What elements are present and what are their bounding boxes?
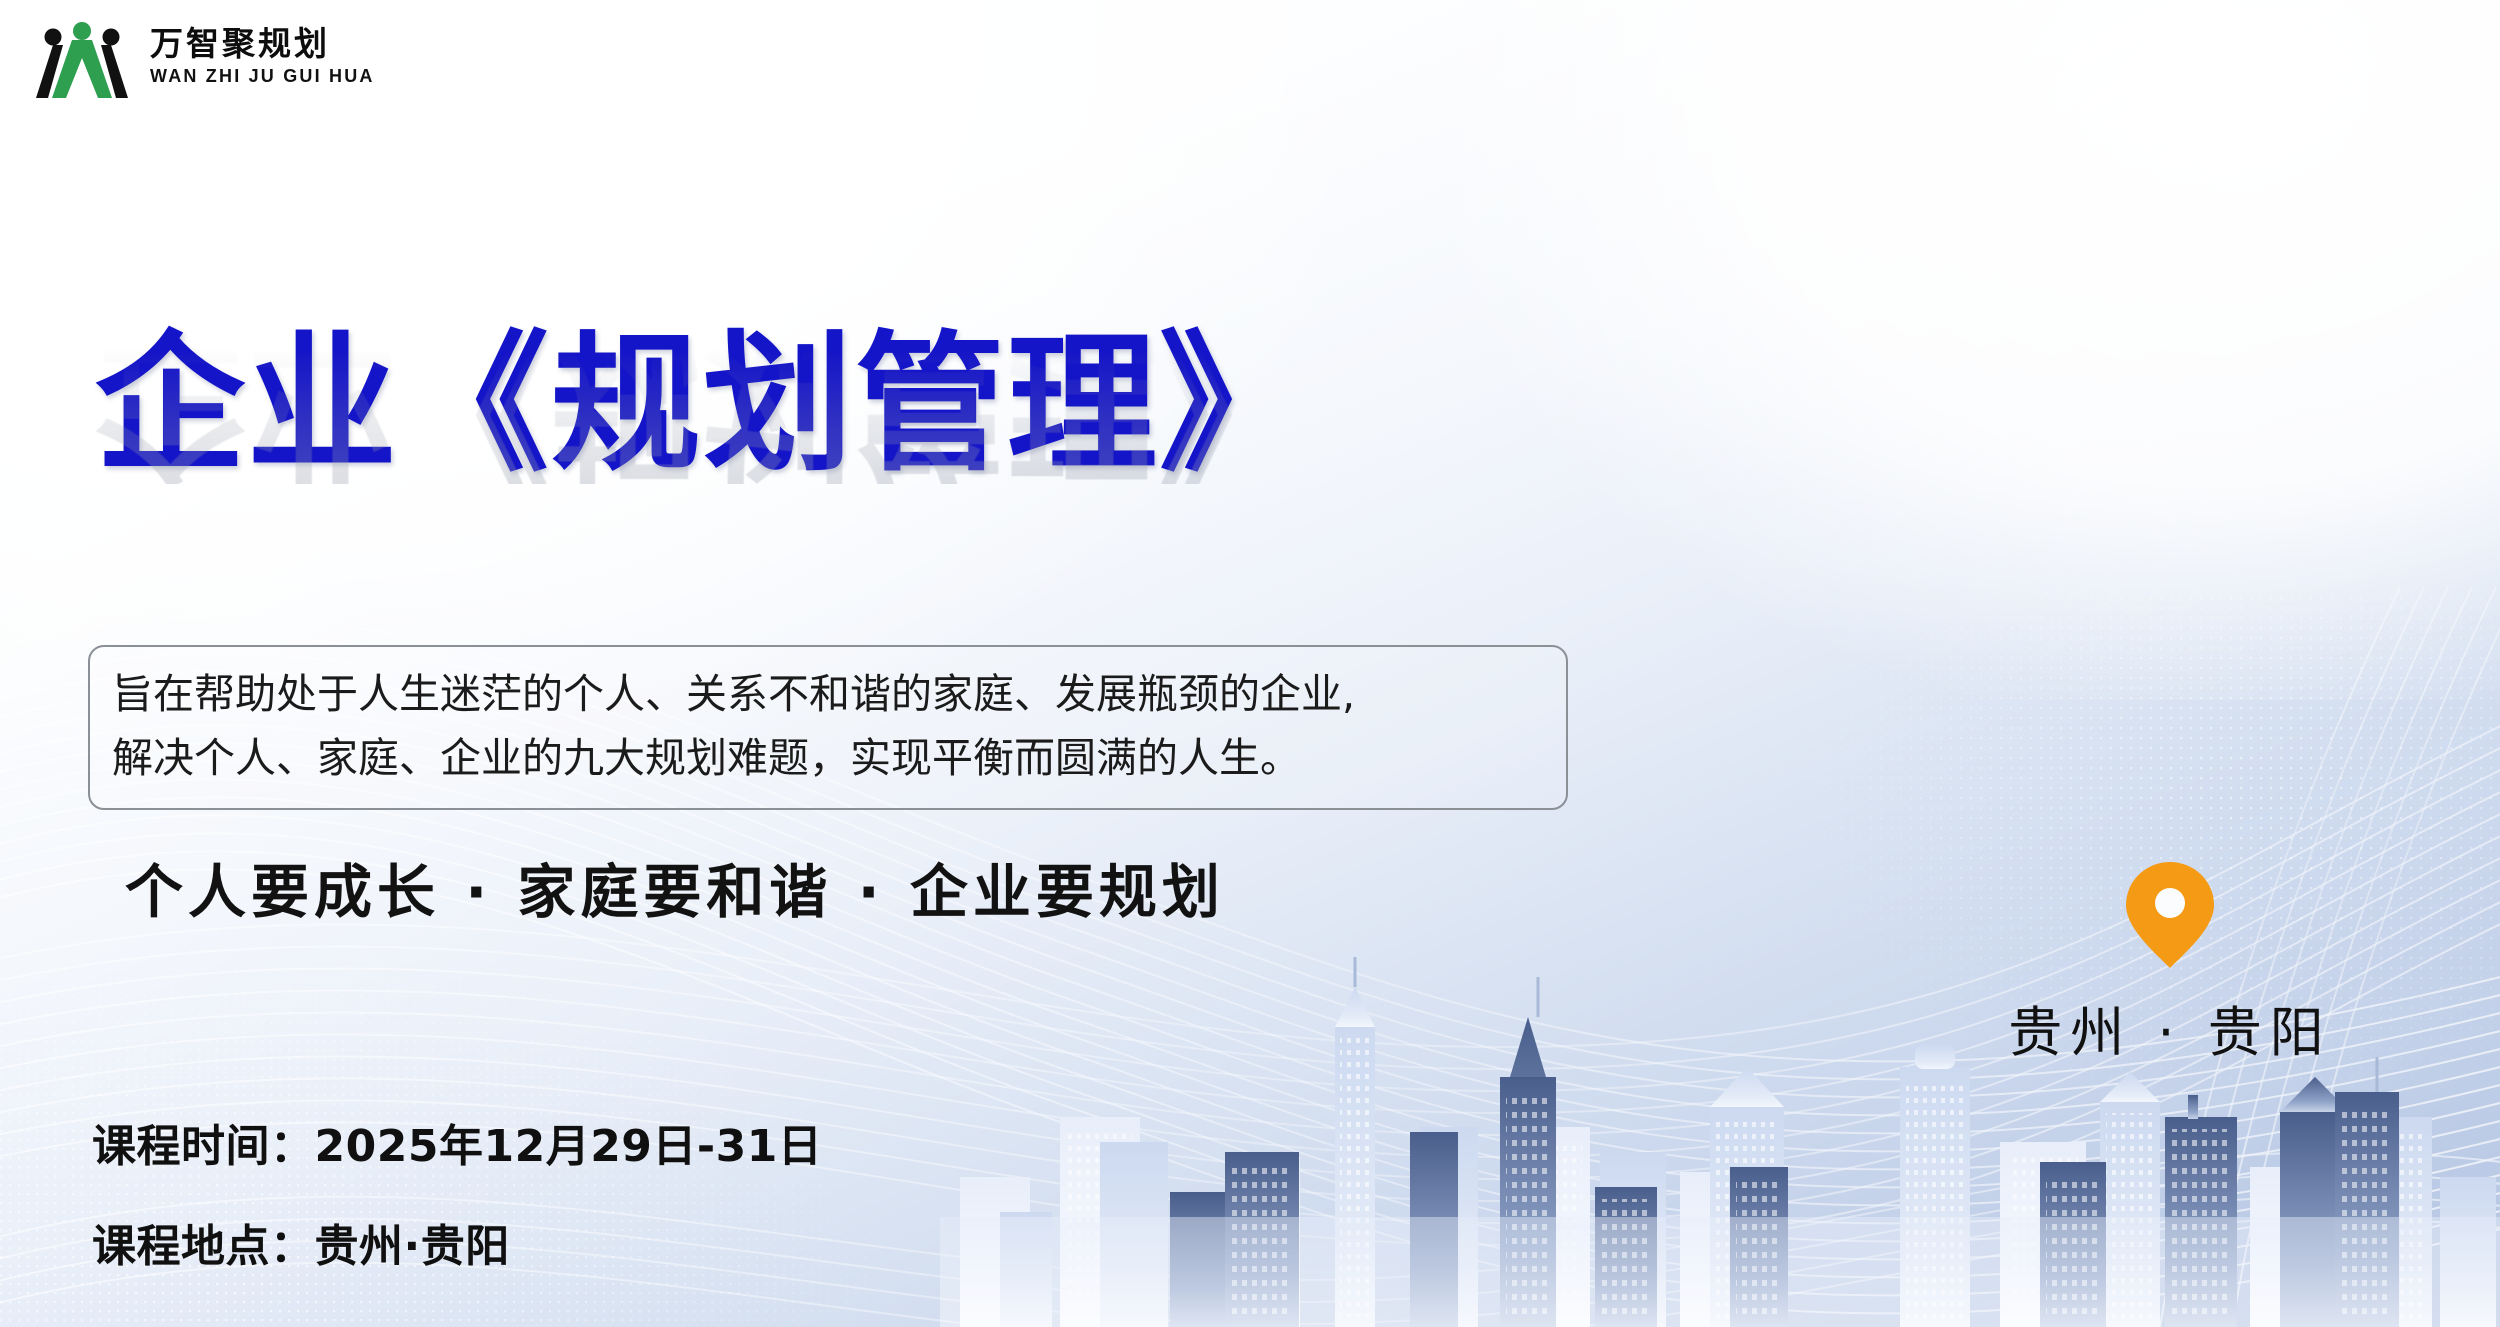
slogan-text: 个人要成长 · 家庭要和谐 · 企业要规划: [125, 845, 1225, 929]
three-people-logo-icon: [30, 14, 134, 98]
course-time: 课程时间：2025年12月29日-31日: [92, 1110, 822, 1174]
poster-canvas: 万智聚规划 WAN ZHI JU GUI HUA 企业《规划管理》 企业《规划管…: [0, 0, 2500, 1327]
brand-name-en: WAN ZHI JU GUI HUA: [150, 67, 375, 85]
location-label: 贵州 · 贵阳: [2008, 988, 2332, 1067]
hero-title-block: 企业《规划管理》 企业《规划管理》: [95, 330, 1595, 660]
brand-logo[interactable]: 万智聚规划 WAN ZHI JU GUI HUA: [30, 14, 375, 98]
course-info-block: 课程时间：2025年12月29日-31日 课程地点：贵州·贵阳: [92, 1110, 822, 1274]
description-line-2: 解决个人、家庭、企业的九大规划难题，实现平衡而圆满的人生。: [112, 727, 1544, 791]
location-badge: 贵州 · 贵阳: [1960, 860, 2380, 1067]
map-pin-icon: [2124, 860, 2216, 970]
course-place: 课程地点：贵州·贵阳: [92, 1210, 822, 1274]
brand-wordmark: 万智聚规划 WAN ZHI JU GUI HUA: [150, 27, 375, 85]
description-line-1: 旨在帮助处于人生迷茫的个人、关系不和谐的家庭、发展瓶颈的企业,: [112, 663, 1544, 727]
description-box: 旨在帮助处于人生迷茫的个人、关系不和谐的家庭、发展瓶颈的企业, 解决个人、家庭、…: [88, 645, 1568, 810]
brand-name-cn: 万智聚规划: [150, 27, 375, 60]
page-title-reflection: 企业《规划管理》: [95, 334, 1595, 484]
background-glow-top-right: [1460, 0, 2500, 700]
